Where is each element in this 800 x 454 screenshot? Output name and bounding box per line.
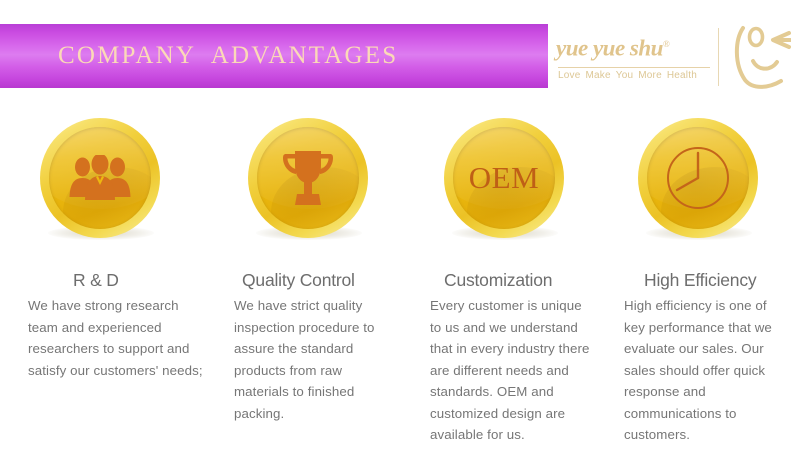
coin-medal-high-efficiency [638,118,760,254]
coin-inner-disc [49,127,151,229]
logo-word-block: yue yue shu® LoveMakeYouMoreHealth [556,25,714,89]
tagline-word-health: Health [667,70,697,81]
oem-label: OEM [469,162,539,193]
coin-inner-disc [647,127,749,229]
advantage-heading-quality-control: Quality Control [242,270,412,291]
page-header: COMPANY ADVANTAGES yue yue shu® LoveMake… [0,0,800,110]
advantage-card-customization: OEM Customization Every customer is uniq… [412,110,610,454]
logo-wordmark: yue yue shu® [556,29,714,64]
coin-outer-ring [40,118,160,238]
tagline-word-more: More [638,70,662,81]
logo-wordmark-text: yue yue shu [556,36,663,61]
advantage-card-rd: R & D We have strong research team and e… [0,110,210,454]
tagline-word-make: Make [586,70,611,81]
company-advantages-page: COMPANY ADVANTAGES yue yue shu® LoveMake… [0,0,800,454]
coin-medal-rd [40,118,162,254]
title-banner: COMPANY ADVANTAGES [0,24,548,88]
tagline-word-you: You [616,70,633,81]
coin-outer-ring: OEM [444,118,564,238]
advantage-card-quality-control: Quality Control We have strict quality i… [210,110,412,454]
advantage-body-quality-control: We have strict quality inspection proced… [234,295,396,424]
coin-inner-disc [257,127,359,229]
advantage-heading-high-efficiency: High Efficiency [644,270,800,291]
advantages-columns: R & D We have strong research team and e… [0,110,800,454]
coin-medal-customization: OEM [444,118,566,254]
smiley-face-arrow-icon [729,24,791,90]
page-title: COMPANY ADVANTAGES [58,42,398,70]
advantage-body-high-efficiency: High efficiency is one of key performanc… [624,295,784,446]
advantage-heading-customization: Customization [444,270,610,291]
clock-icon [647,127,749,229]
coin-outer-ring [248,118,368,238]
logo-divider-rule [558,67,710,68]
advantage-card-high-efficiency: High Efficiency High efficiency is one o… [610,110,800,454]
trophy-icon [257,127,359,229]
tagline-word-love: Love [558,70,581,81]
registered-trademark-icon: ® [663,39,669,49]
advantage-body-customization: Every customer is unique to us and we un… [430,295,594,446]
logo-vertical-divider [718,28,719,86]
oem-text-icon: OEM [453,127,555,229]
advantage-body-rd: We have strong research team and experie… [28,295,206,381]
team-people-icon [49,127,151,229]
logo-tagline: LoveMakeYouMoreHealth [556,70,714,81]
brand-logo[interactable]: yue yue shu® LoveMakeYouMoreHealth [556,22,800,92]
coin-outer-ring [638,118,758,238]
coin-inner-disc: OEM [453,127,555,229]
advantage-heading-rd: R & D [73,270,210,291]
coin-medal-quality-control [248,118,370,254]
